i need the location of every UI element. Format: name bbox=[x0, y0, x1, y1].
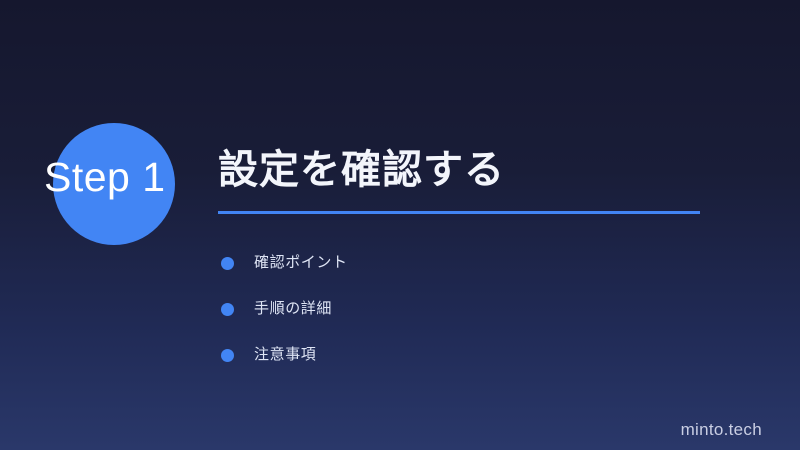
slide-title: 設定を確認する bbox=[218, 146, 505, 194]
bullet-dot-icon bbox=[221, 257, 234, 270]
list-item: 注意事項 bbox=[221, 332, 681, 378]
list-item: 手順の詳細 bbox=[221, 286, 681, 332]
bullet-dot-icon bbox=[221, 303, 234, 316]
step-badge-label: Step 1 bbox=[44, 154, 204, 200]
bullet-list: 確認ポイント 手順の詳細 注意事項 bbox=[221, 240, 681, 378]
list-item-label: 手順の詳細 bbox=[254, 299, 332, 319]
footer-brand: minto.tech bbox=[681, 420, 762, 440]
list-item-label: 確認ポイント bbox=[254, 253, 348, 273]
bullet-dot-icon bbox=[221, 349, 234, 362]
list-item: 確認ポイント bbox=[221, 240, 681, 286]
list-item-label: 注意事項 bbox=[254, 345, 316, 365]
title-divider bbox=[218, 211, 700, 214]
slide-canvas: Step 1 設定を確認する 確認ポイント 手順の詳細 注意事項 minto.t… bbox=[0, 0, 800, 450]
